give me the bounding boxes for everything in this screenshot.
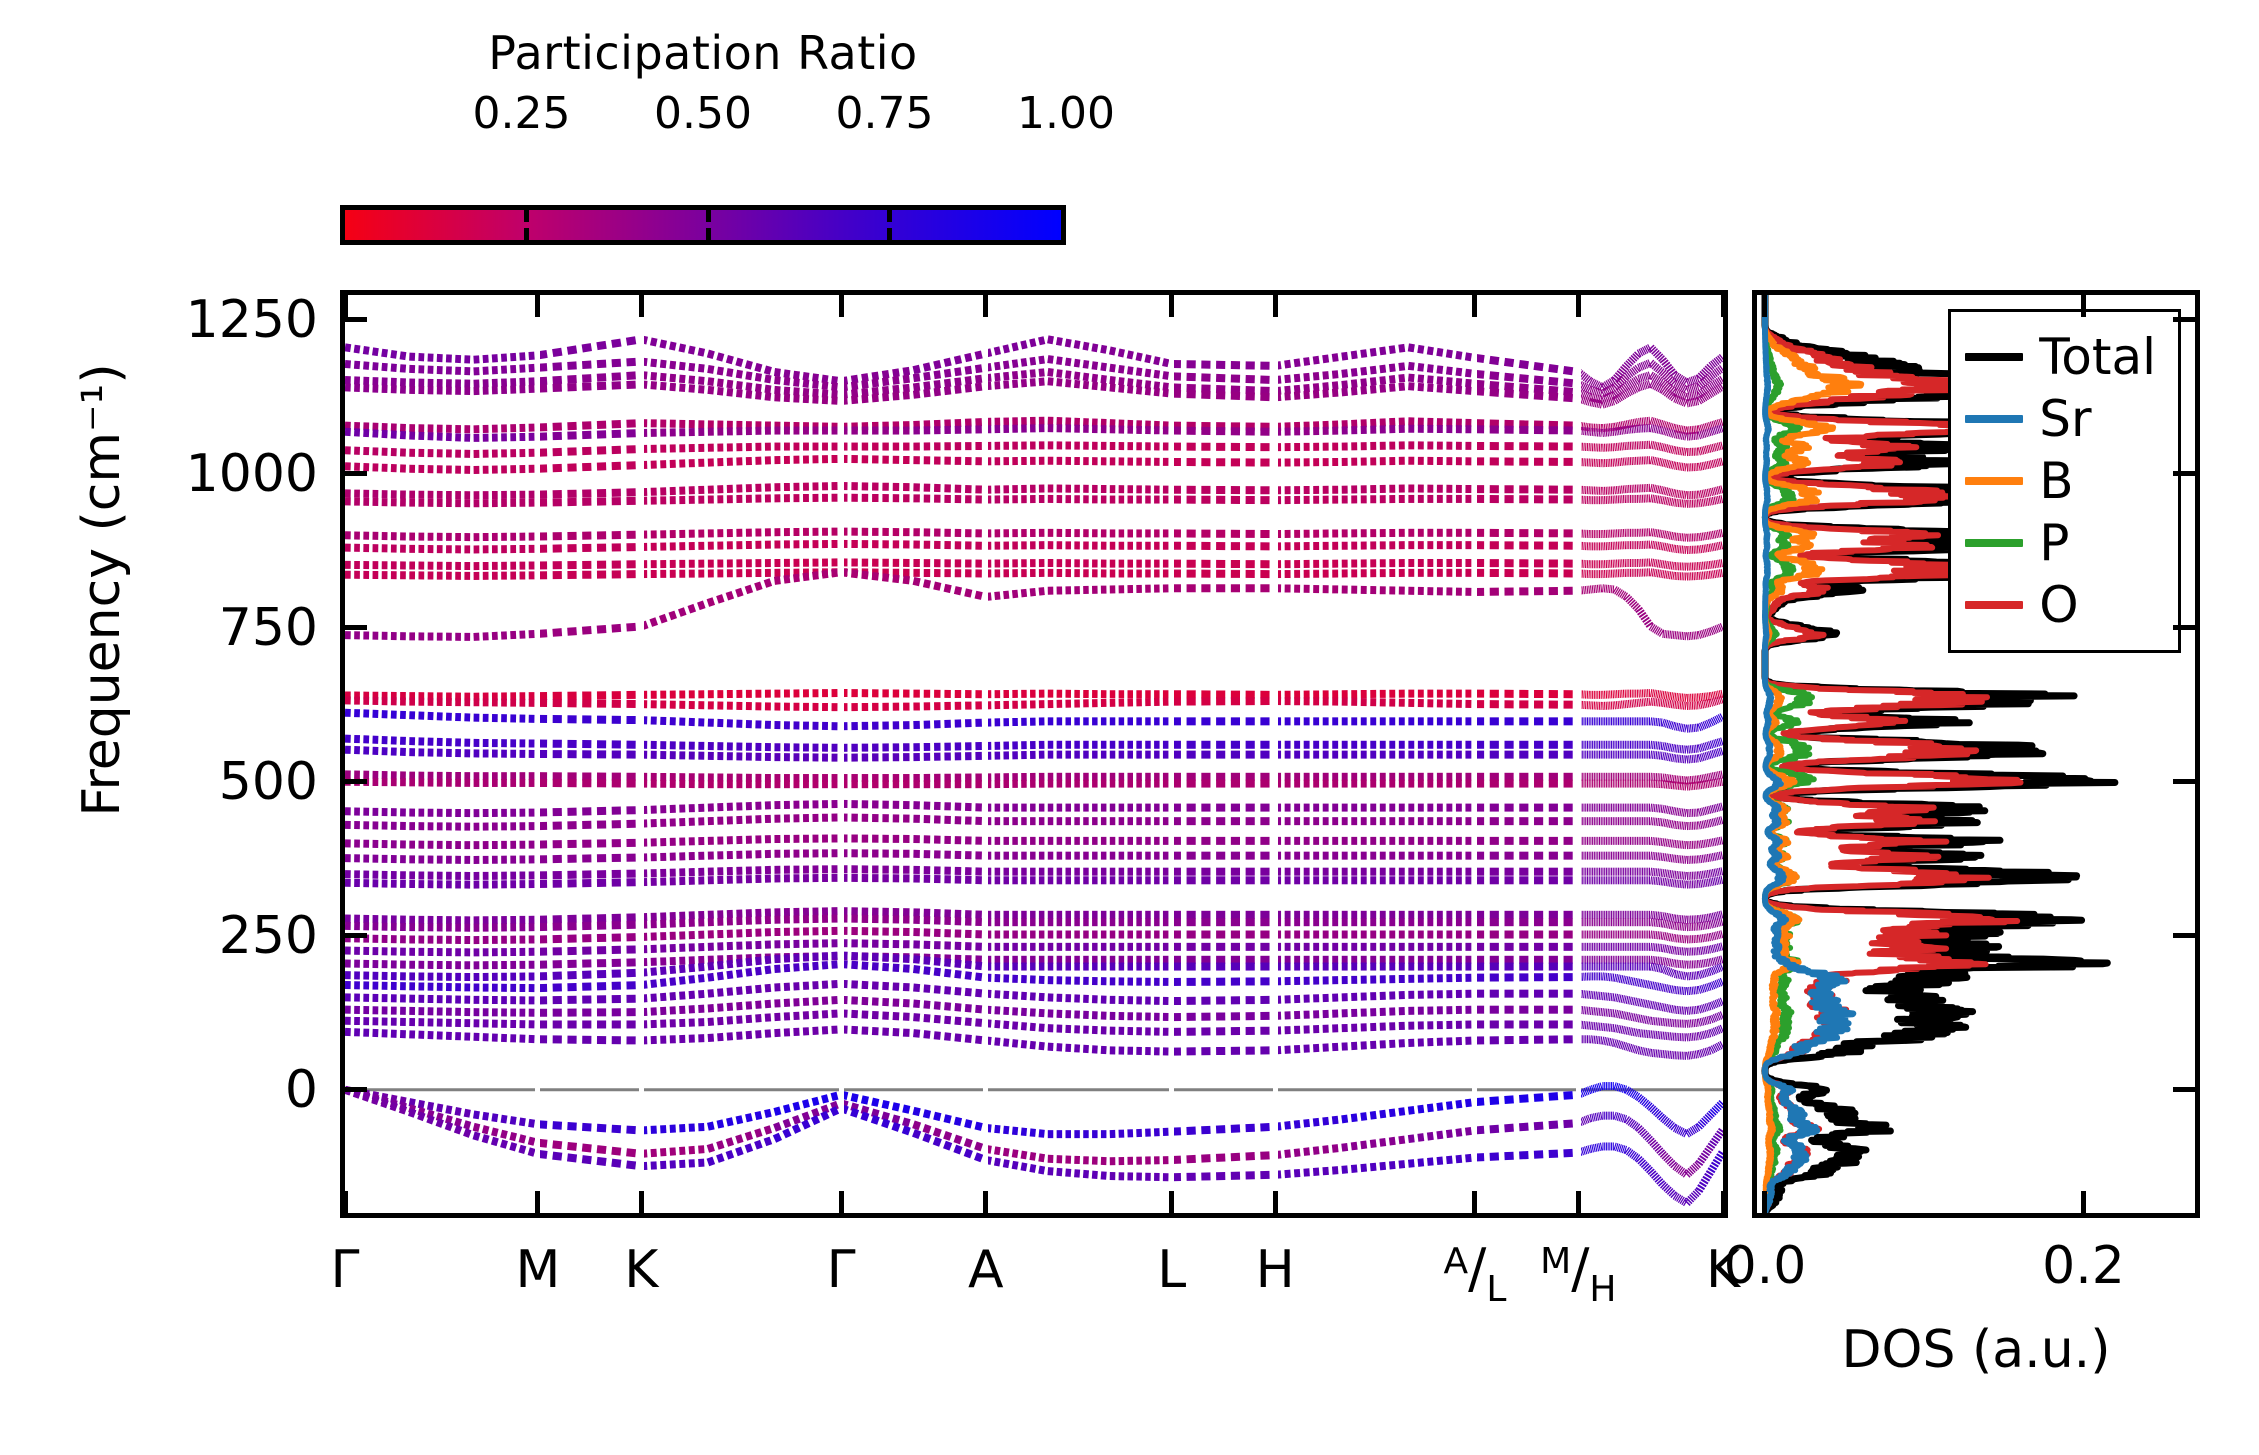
dos-x-tick-mark: [2081, 295, 2086, 317]
y-tick-label: 1250: [0, 290, 318, 350]
legend-label: P: [2039, 518, 2069, 568]
y-tick-label: 250: [0, 906, 318, 966]
colorbar-tick-label: 0.25: [473, 88, 571, 139]
y-axis-label: Frequency (cm⁻¹): [72, 270, 132, 910]
phonon-band: [345, 445, 1722, 454]
phonon-band: [345, 1086, 1722, 1134]
x-tick-label: K: [624, 1240, 658, 1300]
x-tick-label: K: [1706, 1240, 1740, 1300]
y-tick-label: 500: [0, 752, 318, 812]
colorbar-tick-labels: 0.250.500.751.00: [340, 88, 1066, 138]
legend-label: O: [2039, 580, 2078, 630]
legend-item: B: [1965, 450, 2156, 512]
phonon-figure: Participation Ratio 0.250.500.751.00 Tot…: [0, 0, 2259, 1455]
phonon-band: [345, 817, 1722, 826]
colorbar-tick: [524, 210, 529, 222]
legend-item: Sr: [1965, 388, 2156, 450]
phonon-band: [345, 572, 1722, 637]
band-structure-axes: [340, 290, 1728, 1218]
phonon-band: [345, 943, 1722, 952]
colorbar-tick-label: 0.50: [654, 88, 752, 139]
phonon-band: [345, 774, 1722, 780]
phonon-band: [345, 1090, 1722, 1203]
y-tick-label: 1000: [0, 444, 318, 504]
colorbar-tick: [706, 228, 711, 240]
legend-item: O: [1965, 574, 2156, 636]
legend-item: Total: [1965, 326, 2156, 388]
colorbar-tick-label: 0.75: [836, 88, 934, 139]
dos-x-tick-mark: [2081, 1191, 2086, 1213]
phonon-band: [345, 919, 1722, 928]
x-tick-label: Γ: [331, 1240, 360, 1300]
phonon-band: [345, 532, 1722, 538]
phonon-band: [345, 853, 1722, 860]
legend-label: B: [2039, 456, 2073, 506]
dos-axes: TotalSrBPO: [1752, 290, 2200, 1218]
legend-item: P: [1965, 512, 2156, 574]
phonon-band: [345, 486, 1722, 495]
phonon-band: [345, 878, 1722, 885]
phonon-band: [345, 838, 1722, 845]
colorbar-tick-label: 1.00: [1017, 88, 1115, 139]
colorbar-title: Participation Ratio: [340, 30, 1066, 76]
band-structure-plot: [345, 295, 1723, 1213]
phonon-band: [345, 562, 1722, 566]
legend-swatch-o: [1965, 601, 2023, 609]
phonon-band: [345, 739, 1722, 750]
phonon-band: [345, 804, 1722, 813]
y-tick-label: 0: [0, 1060, 318, 1120]
phonon-band: [345, 1029, 1722, 1055]
x-tick-label: Γ: [827, 1240, 856, 1300]
dos-legend: TotalSrBPO: [1948, 309, 2181, 653]
x-tick-label: L: [1157, 1240, 1186, 1300]
dos-x-tick-mark: [1762, 1191, 1767, 1213]
x-tick-label: A/L: [1444, 1240, 1507, 1300]
x-tick-label: A: [968, 1240, 1004, 1300]
colorbar-gradient: [345, 210, 1061, 240]
phonon-band: [345, 984, 1722, 1011]
phonon-band: [345, 750, 1722, 760]
phonon-band: [345, 782, 1722, 787]
phonon-band: [345, 544, 1722, 550]
phonon-band: [345, 713, 1722, 729]
phonon-band: [345, 699, 1722, 707]
legend-swatch-b: [1965, 477, 2023, 485]
dos-x-tick-mark: [1762, 295, 1767, 317]
participation-ratio-colorbar: [340, 205, 1066, 245]
colorbar-tick: [887, 210, 892, 222]
y-tick-label: 750: [0, 598, 318, 658]
phonon-band: [345, 931, 1722, 940]
legend-label: Total: [2039, 332, 2156, 382]
x-tick-label: H: [1256, 1240, 1295, 1300]
dos-x-tick-label: 0.2: [2042, 1236, 2125, 1296]
dos-x-axis-label: DOS (a.u.): [1752, 1320, 2200, 1380]
legend-swatch-total: [1965, 353, 2023, 361]
legend-swatch-p: [1965, 539, 2023, 547]
legend-label: Sr: [2039, 394, 2091, 444]
phonon-band: [345, 1013, 1722, 1037]
x-tick-label: M/H: [1540, 1240, 1616, 1300]
dos-x-tick-label-group: 0.00.2: [0, 1236, 2259, 1296]
colorbar-tick: [524, 228, 529, 240]
colorbar-tick: [887, 228, 892, 240]
phonon-band: [345, 498, 1722, 504]
phonon-band: [345, 693, 1722, 698]
phonon-band: [345, 1000, 1722, 1024]
phonon-band: [345, 428, 1722, 438]
phonon-band: [345, 572, 1722, 576]
legend-swatch-sr: [1965, 415, 2023, 423]
phonon-band: [345, 381, 1722, 404]
phonon-band: [345, 869, 1722, 876]
phonon-band: [345, 459, 1722, 470]
dos-x-tick-label: 0.0: [1724, 1236, 1807, 1296]
colorbar-tick: [706, 210, 711, 222]
x-tick-label: M: [515, 1240, 560, 1300]
